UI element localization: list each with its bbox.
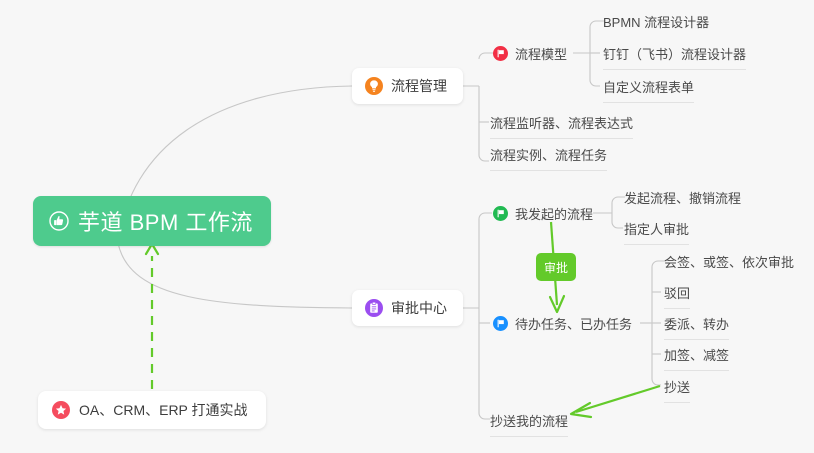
leaf-assignee-approval[interactable]: 指定人审批 bbox=[624, 219, 689, 245]
leaf-add-remove-sign[interactable]: 加签、减签 bbox=[664, 345, 729, 371]
mindmap-canvas: 芋道 BPM 工作流 流程管理 流程模型 BPMN 流程设计器 钉钉（飞书）流程… bbox=[0, 0, 814, 453]
link-ac-child-3 bbox=[479, 413, 490, 419]
link-ac-child-1 bbox=[479, 213, 492, 219]
link-model-child-3 bbox=[590, 80, 600, 86]
leaf-process-listener[interactable]: 流程监听器、流程表达式 bbox=[490, 113, 633, 139]
node-label-process-model: 流程模型 bbox=[515, 44, 567, 63]
node-process-model[interactable]: 流程模型 bbox=[493, 44, 567, 63]
lightbulb-icon bbox=[365, 77, 383, 95]
leaf-dingtalk-designer[interactable]: 钉钉（飞书）流程设计器 bbox=[603, 44, 746, 70]
star-icon bbox=[52, 401, 70, 419]
root-label: 芋道 BPM 工作流 bbox=[78, 205, 253, 237]
node-label-todo-done-tasks: 待办任务、已办任务 bbox=[515, 314, 632, 333]
leaf-bpmn-designer[interactable]: BPMN 流程设计器 bbox=[603, 12, 709, 37]
leaf-delegate-transfer[interactable]: 委派、转办 bbox=[664, 314, 729, 340]
annotation-tag-approval: 审批 bbox=[536, 253, 576, 281]
node-my-initiated[interactable]: 我发起的流程 bbox=[493, 204, 593, 223]
leaf-custom-form[interactable]: 自定义流程表单 bbox=[603, 77, 694, 103]
callout-card-integration[interactable]: OA、CRM、ERP 打通实战 bbox=[38, 391, 266, 429]
node-todo-done-tasks[interactable]: 待办任务、已办任务 bbox=[493, 314, 632, 333]
branch-card-approval-center[interactable]: 审批中心 bbox=[352, 290, 463, 326]
node-label-my-initiated: 我发起的流程 bbox=[515, 204, 593, 223]
leaf-cc[interactable]: 抄送 bbox=[664, 377, 690, 403]
link-root-to-approval-center bbox=[118, 243, 352, 308]
link-model-child-1 bbox=[590, 21, 604, 27]
callout-label: OA、CRM、ERP 打通实战 bbox=[79, 400, 248, 420]
branch-label-process-management: 流程管理 bbox=[391, 76, 447, 96]
leaf-cc-my-process[interactable]: 抄送我的流程 bbox=[490, 411, 568, 437]
link-pm-child-3 bbox=[479, 155, 489, 161]
annotation-arrow-cc bbox=[571, 386, 660, 417]
thumbs-up-icon bbox=[49, 211, 69, 231]
flag-icon bbox=[493, 206, 508, 221]
link-pm-child-1 bbox=[479, 53, 494, 59]
annotation-tag-label: 审批 bbox=[544, 259, 568, 276]
leaf-reject[interactable]: 驳回 bbox=[664, 283, 690, 309]
flag-icon bbox=[493, 46, 508, 61]
link-todo-child-5 bbox=[652, 379, 661, 385]
branch-label-approval-center: 审批中心 bbox=[391, 298, 447, 318]
leaf-process-instance[interactable]: 流程实例、流程任务 bbox=[490, 145, 607, 171]
annotation-arrow-callout bbox=[146, 244, 158, 389]
branch-card-process-management[interactable]: 流程管理 bbox=[352, 68, 463, 104]
leaf-start-cancel-process[interactable]: 发起流程、撤销流程 bbox=[624, 188, 741, 213]
clipboard-icon bbox=[365, 299, 383, 317]
flag-icon bbox=[493, 316, 508, 331]
link-init-child-2 bbox=[612, 222, 623, 228]
leaf-countersign[interactable]: 会签、或签、依次审批 bbox=[664, 252, 794, 277]
root-node[interactable]: 芋道 BPM 工作流 bbox=[33, 196, 271, 246]
